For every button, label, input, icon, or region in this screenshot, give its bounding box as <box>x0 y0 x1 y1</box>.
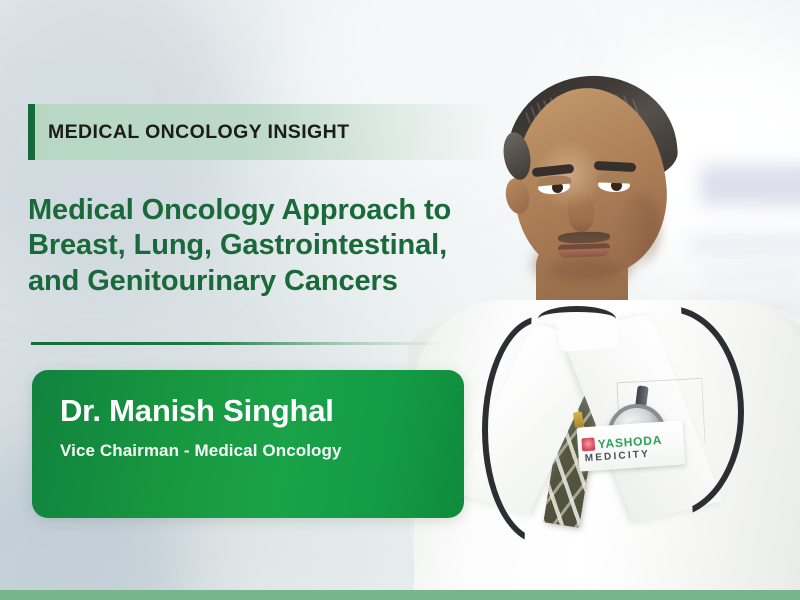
footer-accent-bar <box>0 590 800 600</box>
nose <box>567 191 595 232</box>
eyelid-right <box>597 173 631 183</box>
yashoda-logo-icon <box>581 438 595 452</box>
page-title: Medical Oncology Approach to Breast, Lun… <box>28 193 458 299</box>
hospital-id-badge: YASHODA MEDICITY <box>577 420 686 471</box>
slide-canvas: YASHODA MEDICITY MEDICAL ONCOLOGY INSIGH… <box>0 0 800 600</box>
kicker-badge: MEDICAL ONCOLOGY INSIGHT <box>28 104 498 160</box>
cheek-shadow <box>620 194 660 264</box>
chin-shadow <box>548 258 622 284</box>
presenter-card: Dr. Manish Singhal Vice Chairman - Medic… <box>32 370 464 518</box>
title-divider <box>31 342 443 345</box>
stethoscope-neckband <box>538 306 616 332</box>
presenter-name: Dr. Manish Singhal <box>60 394 464 428</box>
kicker-label: MEDICAL ONCOLOGY INSIGHT <box>48 121 349 144</box>
kicker-accent-bar <box>28 104 35 160</box>
doctor-portrait-photo: YASHODA MEDICITY <box>408 0 800 592</box>
presenter-role: Vice Chairman - Medical Oncology <box>60 441 464 461</box>
badge-brand-line1: YASHODA <box>597 433 662 449</box>
